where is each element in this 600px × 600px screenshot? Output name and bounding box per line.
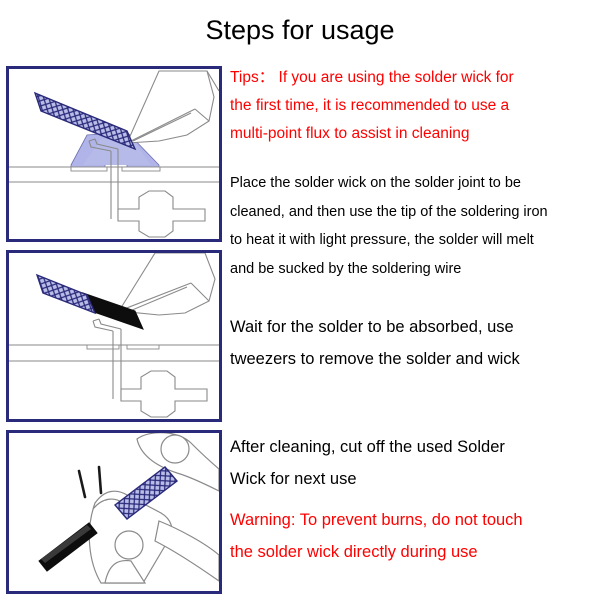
warning-line-1: Warning: To prevent burns, do not touch [230,511,523,529]
soldering-iron-tip [127,71,219,143]
solder-wick-braid [37,275,95,313]
step-2-line-2: tweezers to remove the solder and wick [230,350,520,368]
panel-2-artwork [9,253,219,419]
component-body [121,371,207,417]
tips-line-1: Tips： If you are using the solder wick f… [230,69,514,86]
step-3-line-1: After cleaning, cut off the used Solder [230,438,505,456]
warning-note: Warning: To prevent burns, do not touch … [230,504,592,568]
step-2-instruction: Wait for the solder to be absorbed, use … [230,311,592,375]
component-body [118,191,205,237]
step-1-line-2: cleaned, and then use the tip of the sol… [230,204,548,220]
instruction-sheet: Steps for usage [0,0,600,600]
tweezers [119,253,215,315]
page-title: Steps for usage [0,14,600,46]
step-1-line-4: and be sucked by the soldering wire [230,261,461,277]
tips-line-3: multi-point flux to assist in cleaning [230,125,470,142]
pcb-board [9,345,219,361]
step-2-line-1: Wait for the solder to be absorbed, use [230,318,514,336]
step-1-instruction: Place the solder wick on the solder join… [230,169,592,283]
cut-off-used-wick [39,523,97,571]
step-1-line-1: Place the solder wick on the solder join… [230,175,521,191]
panel-3-svg [9,433,219,591]
step-3-instruction: After cleaning, cut off the used Solder … [230,431,592,495]
panel-3-artwork [9,433,219,591]
panel-1-artwork [9,69,219,239]
cutting-pliers [89,433,219,583]
illustration-panel-step-2 [6,250,222,422]
warning-line-2: the solder wick directly during use [230,543,478,561]
step-3-line-2: Wick for next use [230,470,357,488]
pcb-board [9,167,219,182]
instruction-text-column: Tips： If you are using the solder wick f… [230,60,592,568]
illustration-panel-step-1 [6,66,222,242]
tips-note: Tips： If you are using the solder wick f… [230,64,592,148]
cut-action-marks [79,467,101,497]
component-lead [93,319,121,399]
panel-1-svg [9,69,219,239]
panel-2-svg [9,253,219,419]
illustration-panel-step-3 [6,430,222,594]
tips-line-2: the first time, it is recommended to use… [230,97,509,114]
step-1-line-3: to heat it with light pressure, the sold… [230,232,534,248]
